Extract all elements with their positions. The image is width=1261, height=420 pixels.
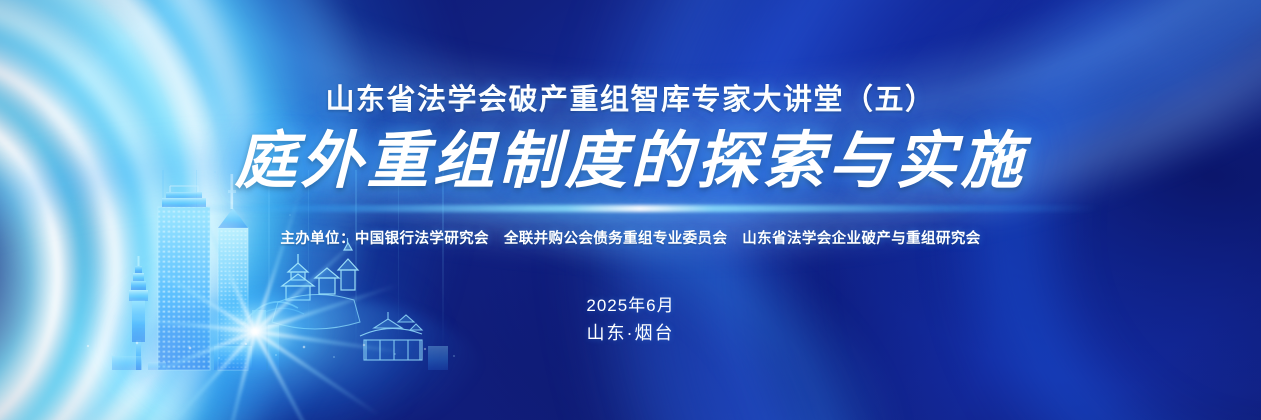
organizers-line: 主办单位：中国银行法学研究会 全联并购公会债务重组专业委员会 山东省法学会企业破… — [0, 227, 1261, 248]
main-title: 庭外重组制度的探索与实施 — [0, 128, 1261, 193]
event-location: 山东·烟台 — [0, 319, 1261, 345]
event-date: 2025年6月 — [0, 291, 1261, 316]
banner-content: 山东省法学会破产重组智库专家大讲堂（五） 庭外重组制度的探索与实施 主办单位：中… — [0, 0, 1261, 420]
series-title: 山东省法学会破产重组智库专家大讲堂（五） — [0, 76, 1261, 118]
conference-banner: 山东省法学会破产重组智库专家大讲堂（五） 庭外重组制度的探索与实施 主办单位：中… — [0, 0, 1261, 420]
